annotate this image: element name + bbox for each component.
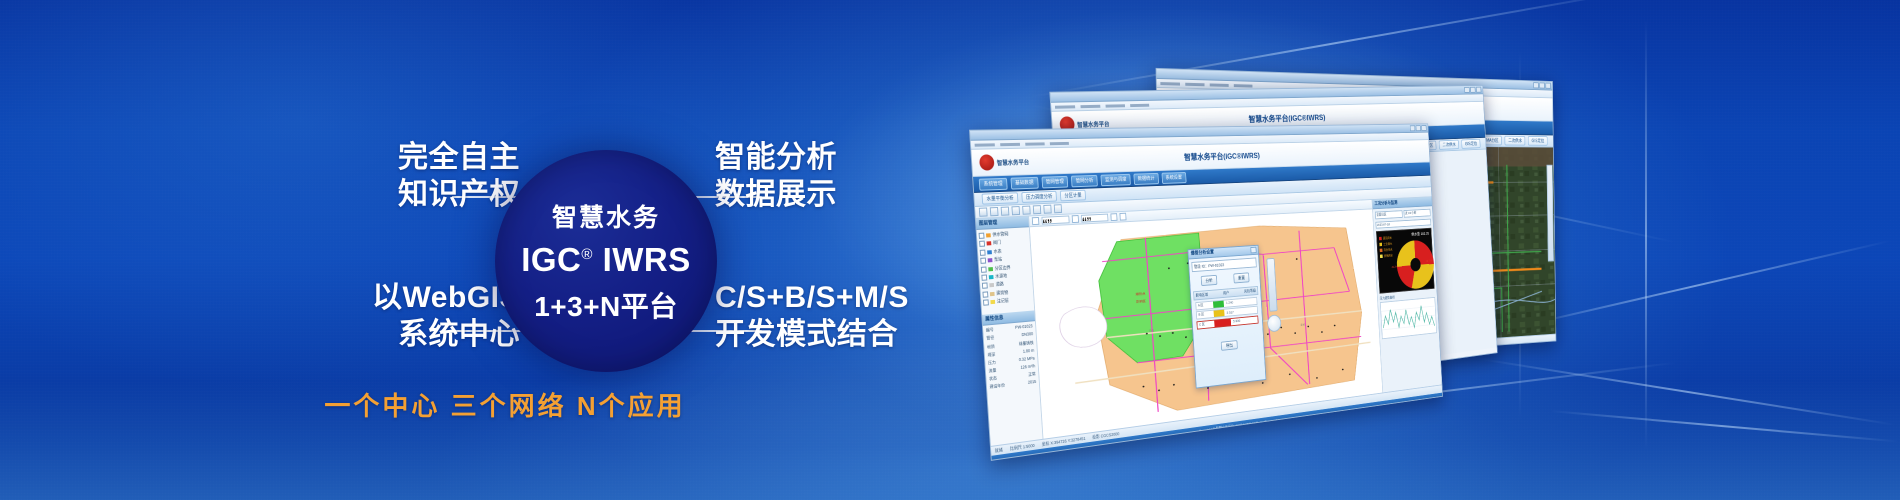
tool-icon[interactable] bbox=[1011, 206, 1020, 215]
feature-line: 开发模式结合 bbox=[715, 317, 1025, 354]
range-select[interactable]: 近 24 小时 bbox=[1404, 209, 1431, 218]
zoom-in-icon[interactable] bbox=[1072, 215, 1079, 223]
map-search-input[interactable] bbox=[1041, 215, 1069, 224]
reset-button[interactable]: 重置 bbox=[1233, 272, 1249, 283]
svg-text:爆管点: 爆管点 bbox=[1135, 291, 1146, 296]
donut-chart-panel: 居民用水 工业用水 商业用水 其他用水 供水量 102.25 41.2% 28.… bbox=[1376, 228, 1435, 294]
nav-item-pipenet[interactable]: 管网管理 bbox=[1041, 175, 1068, 188]
measure-icon[interactable] bbox=[1119, 213, 1126, 221]
subnav-item-pressure[interactable]: 压力调度分析 bbox=[1021, 191, 1057, 203]
minimize-icon[interactable] bbox=[1410, 125, 1415, 131]
tool-icon[interactable] bbox=[1022, 206, 1031, 215]
badge-brand: IGC bbox=[521, 241, 581, 278]
export-button[interactable]: 导出 bbox=[1221, 340, 1237, 351]
nav-item-basedata[interactable]: 基础数据 bbox=[1010, 176, 1038, 189]
donut-label: 28.7% bbox=[1426, 259, 1432, 263]
svg-text:泵站: 泵站 bbox=[1300, 323, 1305, 327]
svg-text:影响区: 影响区 bbox=[1136, 298, 1147, 303]
layer-item[interactable]: 阀门 bbox=[979, 239, 1028, 248]
close-icon[interactable] bbox=[1421, 125, 1426, 131]
product-badge: 智慧水务 IGC® IWRS 1+3+N平台 bbox=[495, 150, 717, 372]
app-title: 智慧水务平台(IGC®IWRS) bbox=[1184, 150, 1260, 163]
feature-line: 数据展示 bbox=[715, 177, 1005, 214]
identify-icon[interactable] bbox=[1110, 213, 1117, 221]
layer-item[interactable]: 水表 bbox=[980, 247, 1029, 256]
perspective-vertical-line bbox=[1645, 20, 1647, 450]
zoom-slider-icon[interactable] bbox=[1547, 165, 1554, 262]
map-filter-input[interactable] bbox=[1081, 214, 1108, 223]
badge-line-3: 1+3+N平台 bbox=[534, 285, 678, 325]
nav-item-monitor[interactable]: 监测与调度 bbox=[1100, 173, 1130, 185]
close-icon[interactable] bbox=[1545, 83, 1550, 89]
feature-bottom-right: C/S+B/S+M/S 开发模式结合 bbox=[715, 280, 1025, 353]
banner-stage: 智慧水务平台(IGC®IWRS) 智慧水务平台(IGC®IWRS) 系统管理 基… bbox=[0, 0, 1900, 500]
maximize-icon[interactable] bbox=[1539, 82, 1544, 88]
donut-label: 41.2% bbox=[1391, 265, 1397, 269]
feature-line: 完全自主 bbox=[290, 140, 520, 177]
close-icon[interactable] bbox=[1476, 87, 1481, 93]
tool-icon[interactable] bbox=[1054, 204, 1062, 213]
status-ready: 就绪 bbox=[995, 447, 1003, 454]
nav-item-stats[interactable]: 数据统计 bbox=[1133, 172, 1158, 184]
toolbar-item[interactable]: GIS定位 bbox=[1461, 139, 1480, 149]
svg-text:节点: 节点 bbox=[1149, 329, 1155, 333]
badge-line-1: 智慧水务 bbox=[552, 198, 660, 234]
app-title: 智慧水务平台(IGC®IWRS) bbox=[1248, 112, 1325, 125]
feature-line: 智能分析 bbox=[715, 140, 1005, 177]
tagline: 一个中心 三个网络 N个应用 bbox=[0, 386, 1010, 423]
feature-bottom-left: 以WebGIS 系统中心 bbox=[270, 280, 520, 353]
dialog-title: 爆管分析设置 bbox=[1191, 249, 1215, 259]
badge-product: IWRS bbox=[603, 241, 691, 278]
analyze-button[interactable]: 分析 bbox=[1201, 275, 1218, 286]
subnav-item-dma[interactable]: 分区计量 bbox=[1060, 190, 1086, 202]
toolbar-item[interactable]: 二次供水 bbox=[1439, 140, 1459, 150]
nav-item-settings[interactable]: 系统设置 bbox=[1161, 172, 1186, 184]
minimize-icon[interactable] bbox=[1464, 87, 1470, 93]
feature-line: C/S+B/S+M/S bbox=[715, 280, 1025, 317]
background-texture bbox=[0, 0, 1900, 500]
feature-top-left: 完全自主 知识产权 bbox=[290, 140, 520, 213]
layer-item[interactable]: 供水管网 bbox=[979, 230, 1028, 239]
feature-top-right: 智能分析 数据展示 bbox=[715, 140, 1005, 213]
feature-line: 以WebGIS bbox=[270, 280, 520, 317]
close-icon[interactable] bbox=[1250, 247, 1256, 254]
toolbar-item[interactable]: 二次供水 bbox=[1505, 136, 1526, 146]
zone-select[interactable]: 全部分区 bbox=[1375, 210, 1403, 219]
registered-icon: ® bbox=[581, 246, 593, 263]
maximize-icon[interactable] bbox=[1470, 87, 1476, 93]
minimize-icon[interactable] bbox=[1533, 82, 1539, 88]
burst-analysis-dialog[interactable]: 爆管分析设置 管段 ID：PW-01023 分析 重置 影响区域 用户 风险等级 bbox=[1187, 245, 1266, 389]
tool-icon[interactable] bbox=[1043, 205, 1051, 214]
nav-item-analysis[interactable]: 管网分析 bbox=[1071, 174, 1098, 186]
donut-chart-title: 供水量 102.25 bbox=[1394, 231, 1430, 238]
pan-tool-icon[interactable] bbox=[1032, 217, 1040, 225]
tool-icon[interactable] bbox=[1033, 205, 1041, 214]
right-panel: 工况分析与监测 全部分区 近 24 小时 2023-07-18 居民用水 工业用… bbox=[1372, 197, 1442, 392]
feature-line: 系统中心 bbox=[270, 317, 520, 354]
badge-product-line: IGC® IWRS bbox=[521, 241, 691, 279]
feature-line: 知识产权 bbox=[290, 177, 520, 214]
maximize-icon[interactable] bbox=[1416, 125, 1421, 131]
dialog-input[interactable]: 管段 ID：PW-01023 bbox=[1191, 257, 1256, 272]
pressure-trend-chart: 压力趋势曲线 bbox=[1380, 292, 1437, 339]
donut-chart bbox=[1395, 239, 1435, 290]
toolbar-item[interactable]: GIS定位 bbox=[1528, 136, 1547, 146]
